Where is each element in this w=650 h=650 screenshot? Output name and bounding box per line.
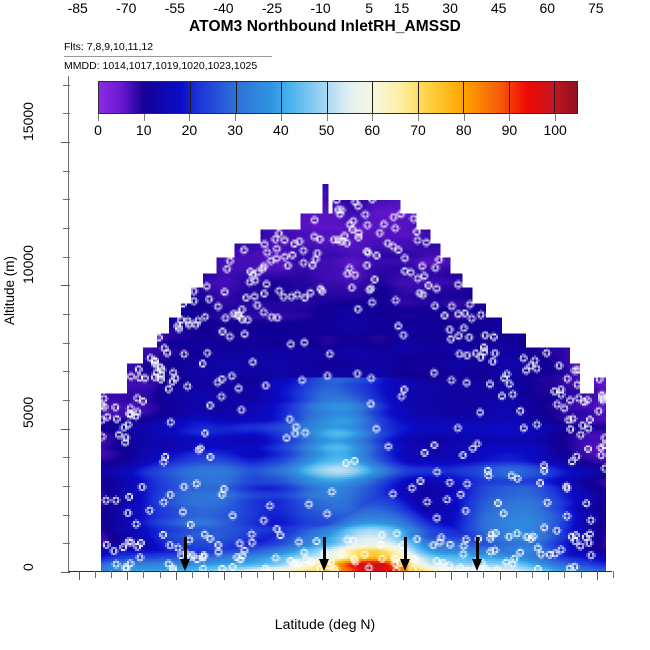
x-axis-title: Latitude (deg N) bbox=[0, 616, 650, 632]
x-axis-major-tick bbox=[548, 571, 549, 580]
x-axis-major-tick bbox=[273, 571, 274, 580]
y-axis-minor-tick bbox=[63, 314, 70, 315]
x-axis-tick-label: -85 bbox=[68, 0, 88, 16]
y-axis-major-tick bbox=[61, 572, 70, 573]
y-axis-minor-tick bbox=[63, 257, 70, 258]
x-axis-major-tick bbox=[403, 571, 404, 580]
x-axis-minor-tick bbox=[467, 571, 468, 578]
annotation-divider bbox=[64, 56, 272, 57]
y-axis-minor-tick bbox=[63, 515, 70, 516]
x-axis-minor-tick bbox=[532, 571, 533, 578]
x-axis-major-tick bbox=[322, 571, 323, 580]
x-axis-minor-tick bbox=[564, 571, 565, 578]
x-axis-major-tick bbox=[79, 571, 80, 580]
x-axis-tick-label: 5 bbox=[365, 0, 373, 16]
y-axis-minor-tick bbox=[63, 171, 70, 172]
y-axis-major-tick bbox=[61, 142, 70, 143]
y-axis-minor-tick bbox=[63, 228, 70, 229]
x-axis-tick-label: -10 bbox=[310, 0, 330, 16]
x-axis-tick-label: 30 bbox=[442, 0, 458, 16]
x-axis-minor-tick bbox=[111, 571, 112, 578]
x-axis-major-tick bbox=[451, 571, 452, 580]
x-axis-major-tick bbox=[224, 571, 225, 580]
x-axis-tick-label: -25 bbox=[262, 0, 282, 16]
profile-arrow bbox=[400, 537, 411, 571]
x-axis-minor-tick bbox=[95, 571, 96, 578]
y-axis-title: Altitude (m) bbox=[2, 256, 17, 325]
y-axis-minor-tick bbox=[63, 85, 70, 86]
x-axis-minor-tick bbox=[338, 571, 339, 578]
dates-annotation: MMDD: 1014,1017,1019,1020,1023,1025 bbox=[64, 60, 257, 72]
y-axis-minor-tick bbox=[63, 113, 70, 114]
profile-arrow bbox=[319, 537, 330, 571]
heatmap-field bbox=[69, 76, 612, 571]
x-axis-tick-label: -70 bbox=[116, 0, 136, 16]
y-axis-minor-tick bbox=[63, 486, 70, 487]
x-axis-minor-tick bbox=[305, 571, 306, 578]
y-axis-minor-tick bbox=[63, 199, 70, 200]
x-axis-major-tick bbox=[597, 571, 598, 580]
x-axis-major-tick bbox=[176, 571, 177, 580]
x-axis-tick-label: 45 bbox=[491, 0, 507, 16]
x-axis-tick-label: 15 bbox=[394, 0, 410, 16]
x-axis-minor-tick bbox=[354, 571, 355, 578]
y-axis-minor-tick bbox=[63, 343, 70, 344]
y-axis-minor-tick bbox=[63, 457, 70, 458]
x-axis-major-tick bbox=[500, 571, 501, 580]
x-axis-minor-tick bbox=[419, 571, 420, 578]
x-axis-minor-tick bbox=[386, 571, 387, 578]
x-axis-minor-tick bbox=[483, 571, 484, 578]
x-axis-tick-label: -40 bbox=[213, 0, 233, 16]
x-axis-minor-tick bbox=[241, 571, 242, 578]
x-axis-tick-label: 75 bbox=[588, 0, 604, 16]
x-axis-minor-tick bbox=[613, 571, 614, 578]
x-axis-minor-tick bbox=[435, 571, 436, 578]
x-axis-minor-tick bbox=[257, 571, 258, 578]
x-axis-minor-tick bbox=[289, 571, 290, 578]
x-axis-major-tick bbox=[127, 571, 128, 580]
heatmap-plot bbox=[68, 76, 612, 572]
y-axis-minor-tick bbox=[63, 400, 70, 401]
x-axis-tick-label: -55 bbox=[165, 0, 185, 16]
x-axis-minor-tick bbox=[208, 571, 209, 578]
page-title: ATOM3 Northbound InletRH_AMSSD bbox=[0, 18, 650, 36]
x-axis-minor-tick bbox=[581, 571, 582, 578]
profile-arrow bbox=[472, 537, 483, 571]
y-axis-minor-tick bbox=[63, 371, 70, 372]
x-axis-minor-tick bbox=[143, 571, 144, 578]
x-axis-major-tick bbox=[370, 571, 371, 580]
y-axis-major-tick bbox=[61, 429, 70, 430]
profile-arrow bbox=[180, 537, 191, 571]
y-axis-minor-tick bbox=[63, 543, 70, 544]
x-axis-tick-label: 60 bbox=[539, 0, 555, 16]
x-axis-minor-tick bbox=[192, 571, 193, 578]
flights-annotation: Flts: 7,8,9,10,11,12 bbox=[64, 41, 153, 53]
x-axis-minor-tick bbox=[516, 571, 517, 578]
x-axis-minor-tick bbox=[160, 571, 161, 578]
y-axis-major-tick bbox=[61, 285, 70, 286]
